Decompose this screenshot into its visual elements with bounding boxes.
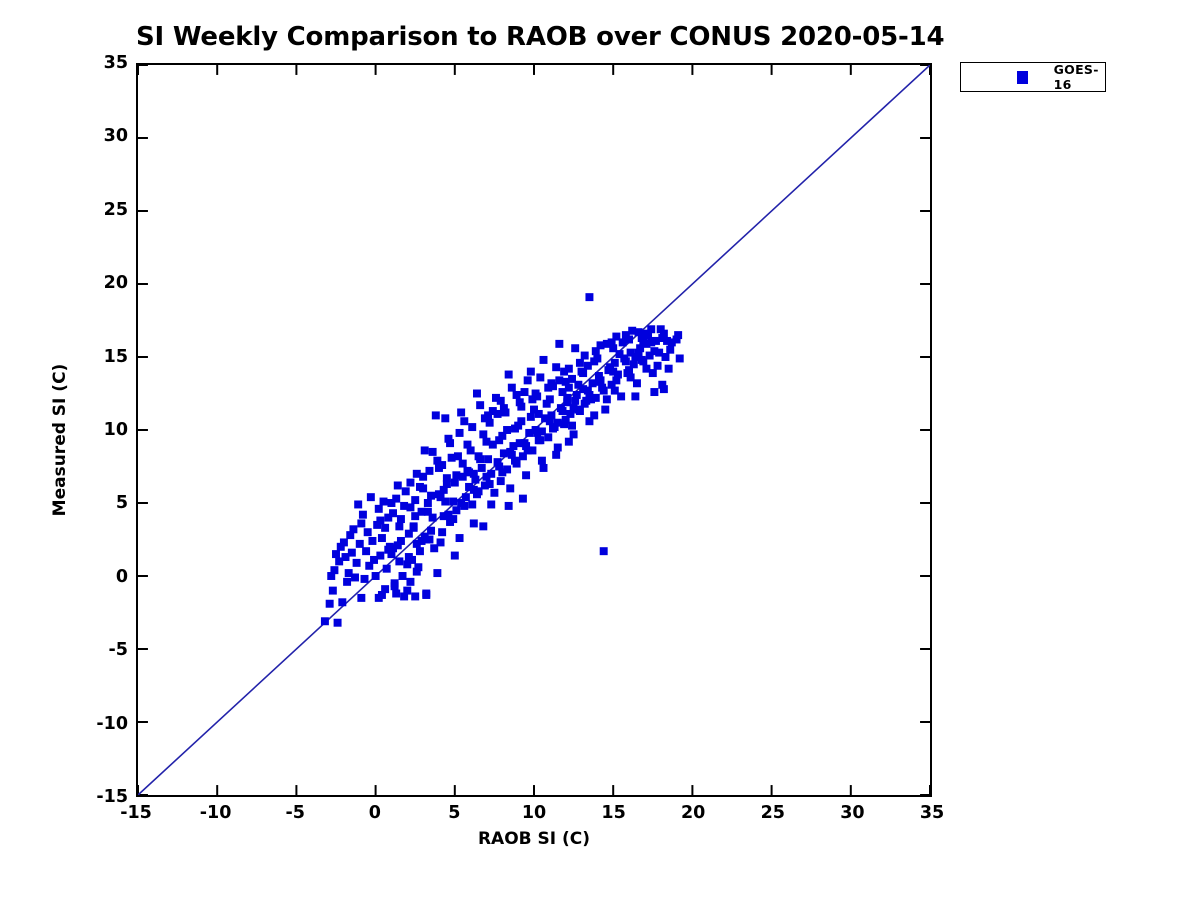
x-tick-label: 25 xyxy=(733,803,813,823)
data-point xyxy=(616,350,624,358)
data-point xyxy=(411,512,419,520)
data-point xyxy=(392,590,400,598)
data-point xyxy=(372,572,380,580)
data-point xyxy=(362,547,370,555)
data-point xyxy=(440,486,448,494)
data-point xyxy=(405,553,413,561)
x-tick-label: 35 xyxy=(892,803,972,823)
data-point xyxy=(647,338,655,346)
data-point xyxy=(516,398,524,406)
data-point xyxy=(522,471,530,479)
data-point xyxy=(571,397,579,405)
data-point xyxy=(441,414,449,422)
data-point xyxy=(429,514,437,522)
data-point xyxy=(470,519,478,527)
data-point xyxy=(357,594,365,602)
x-tick-label: -5 xyxy=(255,803,335,823)
data-point xyxy=(581,352,589,360)
data-point xyxy=(457,499,465,507)
data-point xyxy=(468,500,476,508)
data-point xyxy=(356,540,364,548)
data-point xyxy=(494,410,502,418)
data-point xyxy=(433,569,441,577)
data-point xyxy=(654,362,662,370)
data-point xyxy=(449,498,457,506)
data-point xyxy=(549,425,557,433)
data-point xyxy=(486,480,494,488)
data-point xyxy=(661,353,669,361)
x-tick-label: 20 xyxy=(653,803,733,823)
data-point xyxy=(503,426,511,434)
data-point xyxy=(395,557,403,565)
data-point xyxy=(376,517,384,525)
data-point xyxy=(346,531,354,539)
data-point xyxy=(584,387,592,395)
data-point xyxy=(326,600,334,608)
data-point xyxy=(540,356,548,364)
y-tick-label: 35 xyxy=(0,53,128,73)
data-point xyxy=(568,422,576,430)
data-point xyxy=(560,368,568,376)
data-point xyxy=(438,528,446,536)
data-point xyxy=(601,406,609,414)
data-point xyxy=(406,503,414,511)
data-point xyxy=(368,537,376,545)
x-tick-label: 15 xyxy=(574,803,654,823)
data-point xyxy=(622,331,630,339)
data-point xyxy=(508,384,516,392)
x-tick-label: -10 xyxy=(176,803,256,823)
data-point xyxy=(321,617,329,625)
y-tick-label: -5 xyxy=(0,640,128,660)
data-point xyxy=(359,511,367,519)
data-point xyxy=(452,471,460,479)
data-point xyxy=(563,394,571,402)
data-point xyxy=(581,400,589,408)
data-point xyxy=(424,499,432,507)
data-point xyxy=(443,474,451,482)
data-point xyxy=(411,496,419,504)
x-tick-label: 0 xyxy=(335,803,415,823)
data-point xyxy=(647,325,655,333)
data-point xyxy=(552,451,560,459)
data-point xyxy=(576,359,584,367)
data-point xyxy=(478,464,486,472)
data-point xyxy=(612,376,620,384)
data-point xyxy=(389,509,397,517)
data-point xyxy=(658,381,666,389)
data-point xyxy=(505,502,513,510)
data-point xyxy=(554,444,562,452)
x-tick-label: -15 xyxy=(96,803,176,823)
data-point xyxy=(367,493,375,501)
data-point xyxy=(397,515,405,523)
data-point xyxy=(533,429,541,437)
data-point xyxy=(597,376,605,384)
data-point xyxy=(470,470,478,478)
data-point xyxy=(590,357,598,365)
data-point xyxy=(421,446,429,454)
data-point xyxy=(555,340,563,348)
data-point xyxy=(536,373,544,381)
y-tick-label: 30 xyxy=(0,126,128,146)
data-point xyxy=(590,411,598,419)
data-point xyxy=(521,439,529,447)
data-point xyxy=(384,546,392,554)
data-point xyxy=(378,591,386,599)
data-point xyxy=(505,371,513,379)
data-point xyxy=(555,376,563,384)
data-point xyxy=(495,463,503,471)
data-point xyxy=(334,619,342,627)
data-point xyxy=(508,451,516,459)
data-point xyxy=(394,481,402,489)
data-point xyxy=(337,543,345,551)
data-point xyxy=(536,436,544,444)
data-point xyxy=(487,500,495,508)
data-point xyxy=(552,363,560,371)
data-point xyxy=(585,293,593,301)
data-point xyxy=(625,366,633,374)
data-point xyxy=(413,568,421,576)
data-point xyxy=(650,388,658,396)
data-point xyxy=(419,484,427,492)
data-point xyxy=(611,387,619,395)
y-tick-label: 0 xyxy=(0,567,128,587)
data-point xyxy=(524,376,532,384)
data-point xyxy=(406,578,414,586)
data-point xyxy=(422,590,430,598)
data-point xyxy=(406,479,414,487)
data-point xyxy=(676,354,684,362)
chart-figure: SI Weekly Comparison to RAOB over CONUS … xyxy=(0,0,1200,900)
data-point xyxy=(527,413,535,421)
data-point xyxy=(354,500,362,508)
data-point xyxy=(451,552,459,560)
data-point xyxy=(479,430,487,438)
data-point xyxy=(663,337,671,345)
legend-label-goes16: GOES-16 xyxy=(1054,62,1105,92)
legend[interactable]: GOES-16 xyxy=(960,62,1106,92)
data-point xyxy=(365,562,373,570)
data-point xyxy=(579,369,587,377)
data-point xyxy=(460,417,468,425)
data-point xyxy=(627,373,635,381)
data-point xyxy=(329,587,337,595)
data-point xyxy=(650,347,658,355)
data-point xyxy=(457,408,465,416)
data-point xyxy=(459,460,467,468)
data-point xyxy=(476,401,484,409)
data-point xyxy=(674,331,682,339)
data-point xyxy=(425,536,433,544)
data-point xyxy=(574,381,582,389)
data-point xyxy=(570,430,578,438)
data-point xyxy=(343,578,351,586)
data-point xyxy=(538,457,546,465)
data-point xyxy=(452,506,460,514)
data-point xyxy=(465,483,473,491)
data-point xyxy=(559,407,567,415)
x-axis-label: RAOB SI (C) xyxy=(136,829,932,849)
data-point xyxy=(427,527,435,535)
data-point xyxy=(448,454,456,462)
data-point xyxy=(565,438,573,446)
data-point xyxy=(416,547,424,555)
data-point xyxy=(427,492,435,500)
data-point xyxy=(327,572,335,580)
x-tick-label: 30 xyxy=(812,803,892,823)
data-point xyxy=(476,455,484,463)
data-point xyxy=(642,365,650,373)
data-point xyxy=(506,484,514,492)
y-tick-label: 20 xyxy=(0,273,128,293)
data-point xyxy=(456,429,464,437)
data-point xyxy=(463,441,471,449)
data-point xyxy=(383,565,391,573)
data-point xyxy=(609,368,617,376)
data-point xyxy=(535,410,543,418)
data-point xyxy=(619,338,627,346)
data-point xyxy=(380,498,388,506)
data-point xyxy=(638,356,646,364)
data-point xyxy=(351,573,359,581)
data-point xyxy=(456,534,464,542)
data-point xyxy=(483,473,491,481)
data-point xyxy=(433,457,441,465)
data-point xyxy=(402,487,410,495)
data-point xyxy=(397,537,405,545)
data-point xyxy=(639,338,647,346)
data-point xyxy=(665,365,673,373)
data-point xyxy=(400,592,408,600)
data-point xyxy=(361,575,369,583)
data-point xyxy=(519,495,527,503)
data-point xyxy=(418,537,426,545)
data-point xyxy=(543,400,551,408)
data-point xyxy=(435,464,443,472)
data-point xyxy=(600,387,608,395)
legend-marker-goes16-icon xyxy=(1017,71,1028,84)
data-point xyxy=(603,395,611,403)
data-point xyxy=(666,346,674,354)
data-point xyxy=(399,572,407,580)
scatter-canvas xyxy=(138,65,930,795)
data-point xyxy=(395,522,403,530)
data-point xyxy=(357,519,365,527)
data-point xyxy=(511,425,519,433)
data-point xyxy=(527,368,535,376)
data-point xyxy=(410,524,418,532)
data-point xyxy=(600,547,608,555)
data-point xyxy=(429,448,437,456)
data-point xyxy=(517,417,525,425)
data-point xyxy=(497,477,505,485)
data-point xyxy=(521,388,529,396)
data-point xyxy=(391,579,399,587)
data-point xyxy=(332,550,340,558)
data-point xyxy=(540,464,548,472)
data-point xyxy=(468,423,476,431)
data-point xyxy=(441,498,449,506)
data-point xyxy=(546,417,554,425)
y-tick-label: 25 xyxy=(0,200,128,220)
data-point xyxy=(490,489,498,497)
data-point xyxy=(419,473,427,481)
data-point xyxy=(381,524,389,532)
data-point xyxy=(479,522,487,530)
data-point xyxy=(631,392,639,400)
data-point xyxy=(338,598,346,606)
y-tick-label: -10 xyxy=(0,714,128,734)
data-point xyxy=(565,384,573,392)
data-point xyxy=(378,534,386,542)
data-point xyxy=(513,391,521,399)
data-point xyxy=(489,441,497,449)
data-point xyxy=(608,338,616,346)
data-point xyxy=(437,538,445,546)
data-point xyxy=(592,347,600,355)
data-point xyxy=(497,397,505,405)
data-point xyxy=(375,505,383,513)
page-title: SI Weekly Comparison to RAOB over CONUS … xyxy=(136,22,936,52)
data-point xyxy=(473,390,481,398)
data-point xyxy=(481,414,489,422)
data-point xyxy=(571,344,579,352)
data-point xyxy=(387,499,395,507)
data-point xyxy=(446,439,454,447)
data-point xyxy=(622,357,630,365)
plot-area xyxy=(136,63,932,797)
data-point xyxy=(403,560,411,568)
data-point xyxy=(635,349,643,357)
data-point xyxy=(484,455,492,463)
data-point xyxy=(364,528,372,536)
data-point xyxy=(444,511,452,519)
data-point xyxy=(353,559,361,567)
data-point xyxy=(544,384,552,392)
data-point xyxy=(451,479,459,487)
data-point xyxy=(528,395,536,403)
data-point xyxy=(411,592,419,600)
data-point xyxy=(432,411,440,419)
data-point xyxy=(348,549,356,557)
y-axis-label: Measured SI (C) xyxy=(50,340,70,540)
x-tick-label: 10 xyxy=(494,803,574,823)
data-point xyxy=(524,446,532,454)
data-point xyxy=(660,330,668,338)
x-tick-label: 5 xyxy=(414,803,494,823)
